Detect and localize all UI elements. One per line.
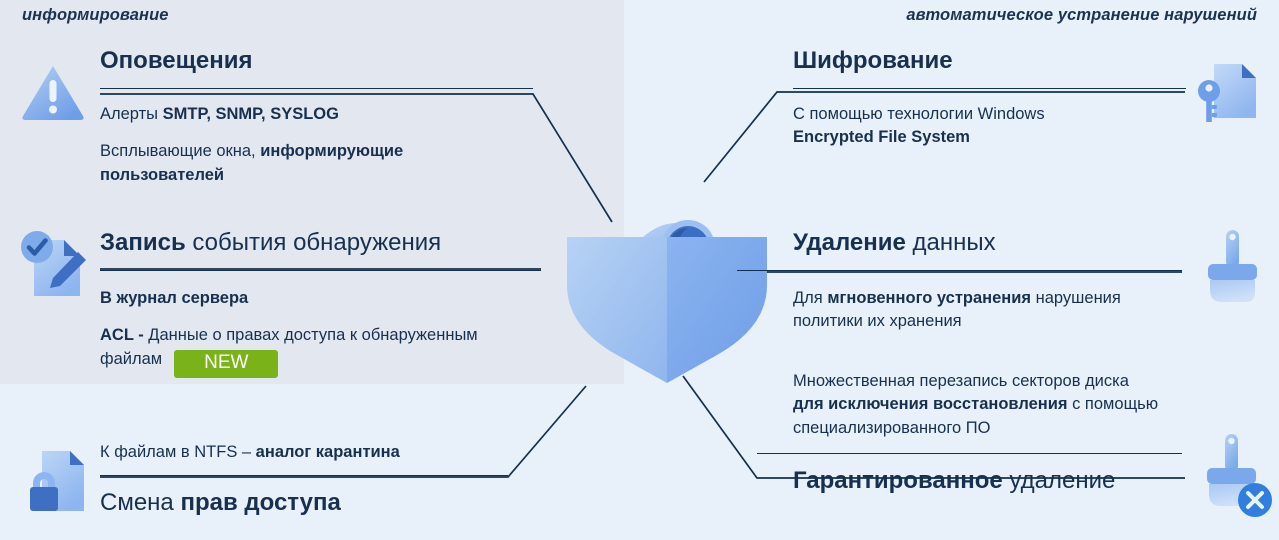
deletion-body: Для мгновенного устранения нарушения пол…	[793, 287, 1163, 334]
guaranteed-body: Множественная перезапись секторов диска …	[793, 370, 1163, 440]
alerts-line-2: Всплывающие окна, информирующие пользова…	[100, 140, 490, 187]
record-rule	[100, 270, 541, 271]
document-key-icon	[1192, 56, 1270, 134]
access-top-line: К файлам в NTFS – аналог карантина	[100, 443, 560, 463]
guaranteed-title: Гарантированное удаление	[793, 468, 1193, 495]
encryption-body: С помощью технологии Windows Encrypted F…	[793, 103, 1123, 150]
shield-eye-center-graphic	[555, 185, 780, 385]
deletion-title: Удаление данных	[793, 230, 1213, 257]
alerts-rule	[100, 88, 533, 89]
block-record: Запись события обнаружения В журнал серв…	[100, 230, 560, 378]
guaranteed-rule	[757, 453, 1182, 454]
record-body: В журнал сервера ACL - Данные о правах д…	[100, 287, 560, 378]
document-check-pencil-icon	[16, 226, 94, 304]
record-title: Запись события обнаружения	[100, 230, 560, 257]
block-access: К файлам в NTFS – аналог карантина Смена…	[100, 443, 560, 517]
new-badge: NEW	[174, 350, 278, 378]
block-guaranteed: Множественная перезапись секторов диска …	[793, 370, 1193, 495]
encryption-rule	[793, 88, 1186, 89]
alerts-body: Алерты SMTP, SNMP, SYSLOG Всплывающие ок…	[100, 103, 550, 187]
block-encryption: Шифрование С помощью технологии Windows …	[700, 48, 1186, 150]
document-lock-icon	[18, 443, 98, 523]
access-rule	[100, 475, 508, 476]
block-deletion: Удаление данных Для мгновенного устранен…	[793, 230, 1213, 334]
encryption-title: Шифрование	[793, 48, 1186, 75]
alerts-title: Оповещения	[100, 48, 550, 75]
deletion-rule	[737, 270, 1182, 271]
caption-right: автоматическое устранение нарушений	[906, 6, 1257, 25]
diagram-canvas: информирование автоматическое устранение…	[0, 0, 1279, 540]
warning-triangle-icon	[18, 58, 88, 128]
caption-left: информирование	[22, 6, 169, 25]
access-title: Смена прав доступа	[100, 490, 560, 517]
alerts-line-1: Алерты SMTP, SNMP, SYSLOG	[100, 103, 550, 126]
brush-delete-icon	[1196, 428, 1279, 528]
record-line-1: В журнал сервера	[100, 287, 560, 310]
block-alerts: Оповещения Алерты SMTP, SNMP, SYSLOG Всп…	[100, 48, 550, 187]
record-line-2: ACL - Данные о правах доступа к обнаруже…	[100, 324, 530, 378]
